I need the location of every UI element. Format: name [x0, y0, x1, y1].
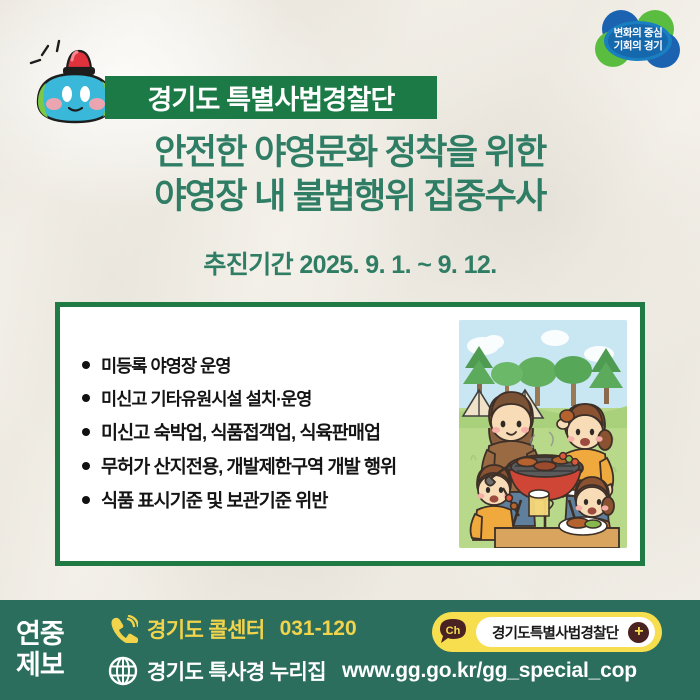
violations-content-box: 미등록 야영장 운영 미신고 기타유원시설 설치·운영 미신고 숙박업, 식품접…: [55, 302, 645, 566]
department-banner: 경기도 특별사법경찰단: [105, 76, 437, 119]
kakao-channel-icon: Ch: [437, 616, 469, 648]
website-label: 경기도 특사경 누리집: [147, 656, 326, 686]
violation-label: 미신고 기타유원시설 설치·운영: [101, 389, 311, 410]
violation-label: 미신고 숙박업, 식품접객업, 식육판매업: [101, 422, 380, 444]
globe-icon: [108, 656, 138, 686]
list-item: 미등록 야영장 운영: [82, 351, 459, 382]
call-center-label: 경기도 콜센터: [147, 614, 265, 644]
bullet-icon: [82, 361, 90, 369]
kakao-channel-button[interactable]: Ch 경기도특별사법경찰단 +: [432, 612, 662, 652]
report-tag-line-2: 제보: [16, 651, 64, 680]
bullet-icon: [82, 496, 90, 504]
violation-label: 미등록 야영장 운영: [101, 356, 231, 377]
list-item: 무허가 산지전용, 개발제한구역 개발 행위: [82, 451, 459, 483]
poster-root: 변화의 중심 기회의 경기 경기도 특별사법경찰단: [0, 0, 700, 700]
list-item: 미신고 기타유원시설 설치·운영: [82, 384, 459, 415]
list-item: 식품 표시기준 및 보관기준 위반: [82, 485, 459, 517]
family-bbq-camping-illustration: [459, 320, 627, 548]
website-url[interactable]: www.gg.go.kr/gg_special_cop: [342, 659, 637, 683]
kakao-channel-inner[interactable]: 경기도특별사법경찰단 +: [476, 617, 655, 647]
bullet-icon: [82, 462, 90, 470]
violation-label: 식품 표시기준 및 보관기준 위반: [101, 490, 328, 512]
gyeonggi-brand-logo: 변화의 중심 기회의 경기: [588, 8, 688, 72]
kakao-add-channel-icon[interactable]: +: [628, 622, 649, 643]
brand-logo-line-1: 변화의 중심: [614, 28, 663, 40]
website-row[interactable]: 경기도 특사경 누리집 www.gg.go.kr/gg_special_cop: [108, 652, 690, 690]
svg-text:Ch: Ch: [446, 625, 461, 637]
kakao-channel-name: 경기도특별사법경찰단: [492, 622, 618, 643]
violation-label: 무허가 산지전용, 개발제한구역 개발 행위: [101, 456, 396, 478]
department-name: 경기도 특별사법경찰단: [147, 78, 394, 117]
page-title: 안전한 야영문화 정착을 위한 야영장 내 불법행위 집중수사: [0, 133, 700, 217]
phone-ringing-icon: [108, 614, 138, 644]
campaign-period: 추진기간 2025. 9. 1. ~ 9. 12.: [0, 245, 700, 281]
bullet-icon: [82, 428, 90, 436]
title-line-2: 야영장 내 불법행위 집중수사: [0, 177, 700, 217]
call-center-number[interactable]: 031-120: [280, 617, 357, 641]
bullet-icon: [82, 394, 90, 402]
report-tag: 연중 제보: [0, 620, 108, 680]
brand-logo-text: 변화의 중심 기회의 경기: [588, 8, 688, 72]
violation-list: 미등록 야영장 운영 미신고 기타유원시설 설치·운영 미신고 숙박업, 식품접…: [60, 307, 459, 561]
brand-logo-line-2: 기회의 경기: [614, 41, 663, 53]
title-line-1: 안전한 야영문화 정착을 위한: [0, 133, 700, 173]
list-item: 미신고 숙박업, 식품접객업, 식육판매업: [82, 417, 459, 449]
report-tag-line-1: 연중: [16, 620, 64, 649]
